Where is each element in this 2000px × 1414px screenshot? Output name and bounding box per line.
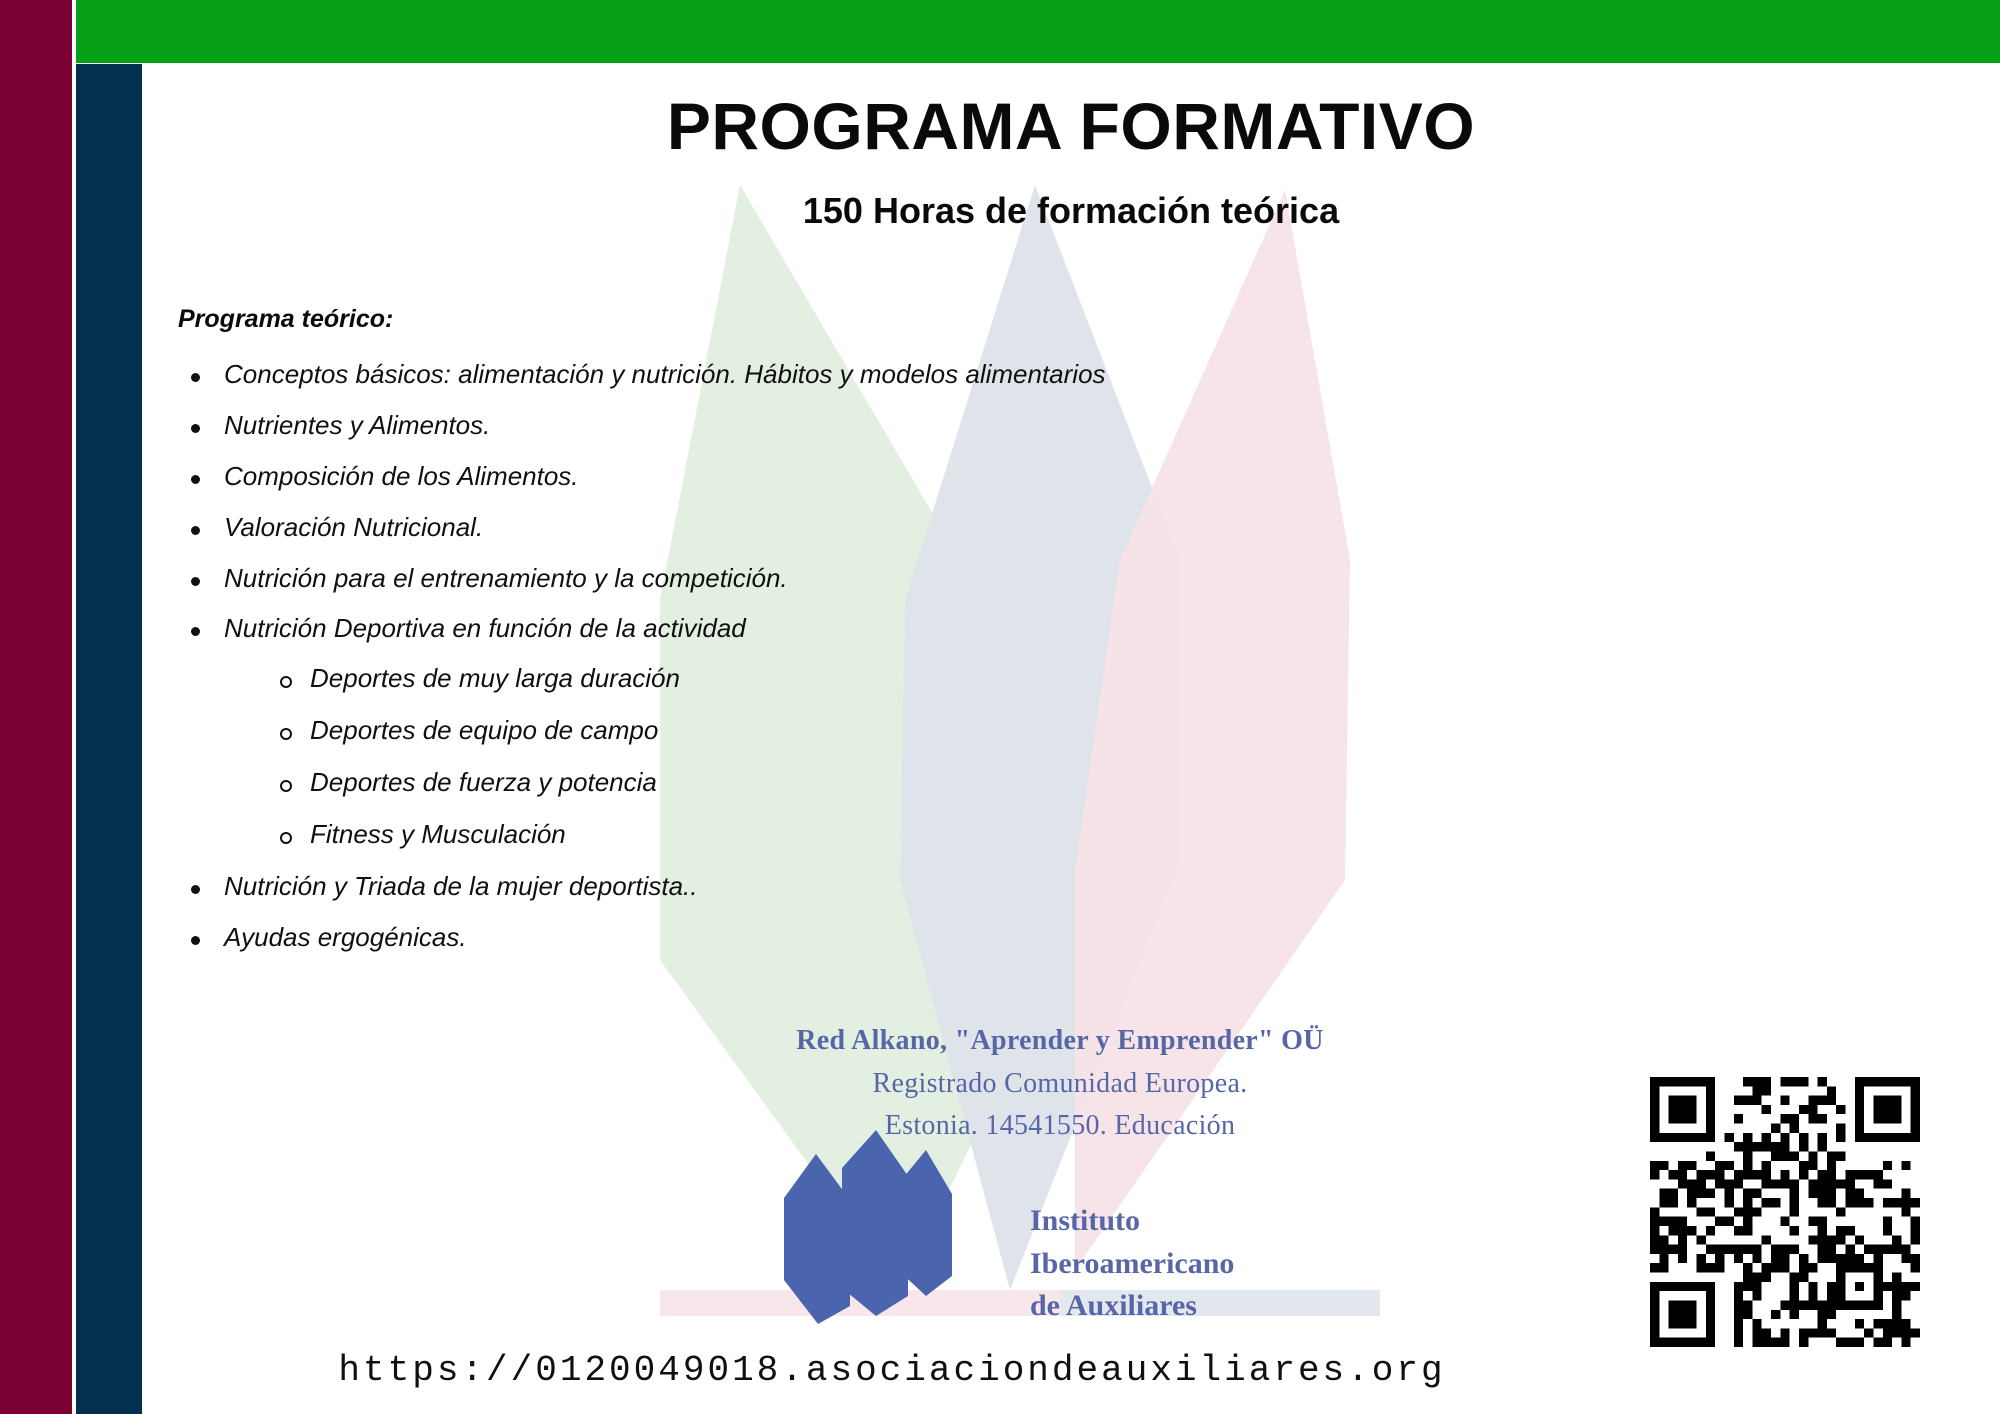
- program-item-label: Nutrientes y Alimentos.: [224, 410, 490, 440]
- program-lead-label: Programa teórico:: [178, 305, 1478, 334]
- program-item: Nutrición para el entrenamiento y la com…: [178, 564, 1478, 594]
- program-item-label: Nutrición y Triada de la mujer deportist…: [224, 871, 698, 901]
- page-subtitle: 150 Horas de formación teórica: [142, 190, 2000, 232]
- program-item-label: Nutrición para el entrenamiento y la com…: [224, 563, 788, 593]
- program-item: Composición de los Alimentos.: [178, 462, 1478, 492]
- institute-name-block: Instituto Iberoamericano de Auxiliares: [1030, 1200, 1420, 1328]
- registration-stamp: Red Alkano, "Aprender y Emprender" OÜ Re…: [700, 1020, 1420, 1350]
- program-subitem: Deportes de muy larga duración: [272, 664, 1478, 694]
- program-item: Ayudas ergogénicas.: [178, 923, 1478, 953]
- institute-line-3: de Auxiliares: [1030, 1285, 1420, 1328]
- institute-line-1: Instituto: [1030, 1200, 1420, 1243]
- institute-line-2: Iberoamericano: [1030, 1243, 1420, 1286]
- stamp-line-2: Registrado Comunidad Europea.: [700, 1063, 1420, 1106]
- page-title: PROGRAMA FORMATIVO: [142, 92, 2000, 161]
- program-item-label: Conceptos básicos: alimentación y nutric…: [224, 359, 1106, 389]
- program-item-label: Nutrición Deportiva en función de la act…: [224, 613, 746, 643]
- website-url[interactable]: https://0120049018.asociaciondeauxiliare…: [142, 1350, 1642, 1391]
- stamp-text-block: Red Alkano, "Aprender y Emprender" OÜ Re…: [700, 1020, 1420, 1148]
- qr-code[interactable]: [1650, 1077, 1920, 1347]
- left-maroon-bar: [0, 0, 72, 1414]
- program-body: Programa teórico: Conceptos básicos: ali…: [178, 305, 1478, 974]
- program-subitem: Deportes de equipo de campo: [272, 716, 1478, 746]
- stamp-line-1: Red Alkano, "Aprender y Emprender" OÜ: [700, 1020, 1420, 1063]
- program-subitem: Deportes de fuerza y potencia: [272, 768, 1478, 798]
- stamp-line-3: Estonia. 14541550. Educación: [700, 1105, 1420, 1148]
- program-item-label: Valoración Nutricional.: [224, 512, 483, 542]
- program-item: Nutrición y Triada de la mujer deportist…: [178, 872, 1478, 902]
- program-sublist: Deportes de muy larga duraciónDeportes d…: [224, 664, 1478, 850]
- program-subitem: Fitness y Musculación: [272, 820, 1478, 850]
- program-item-label: Composición de los Alimentos.: [224, 461, 579, 491]
- program-list: Conceptos básicos: alimentación y nutric…: [178, 360, 1478, 953]
- poster-page: PROGRAMA FORMATIVO 150 Horas de formació…: [0, 0, 2000, 1414]
- left-navy-bar: [76, 64, 142, 1414]
- program-item: Nutrientes y Alimentos.: [178, 411, 1478, 441]
- top-green-bar: [76, 0, 2000, 63]
- program-item: Conceptos básicos: alimentación y nutric…: [178, 360, 1478, 390]
- program-item: Nutrición Deportiva en función de la act…: [178, 614, 1478, 849]
- program-item-label: Ayudas ergogénicas.: [224, 922, 467, 952]
- program-item: Valoración Nutricional.: [178, 513, 1478, 543]
